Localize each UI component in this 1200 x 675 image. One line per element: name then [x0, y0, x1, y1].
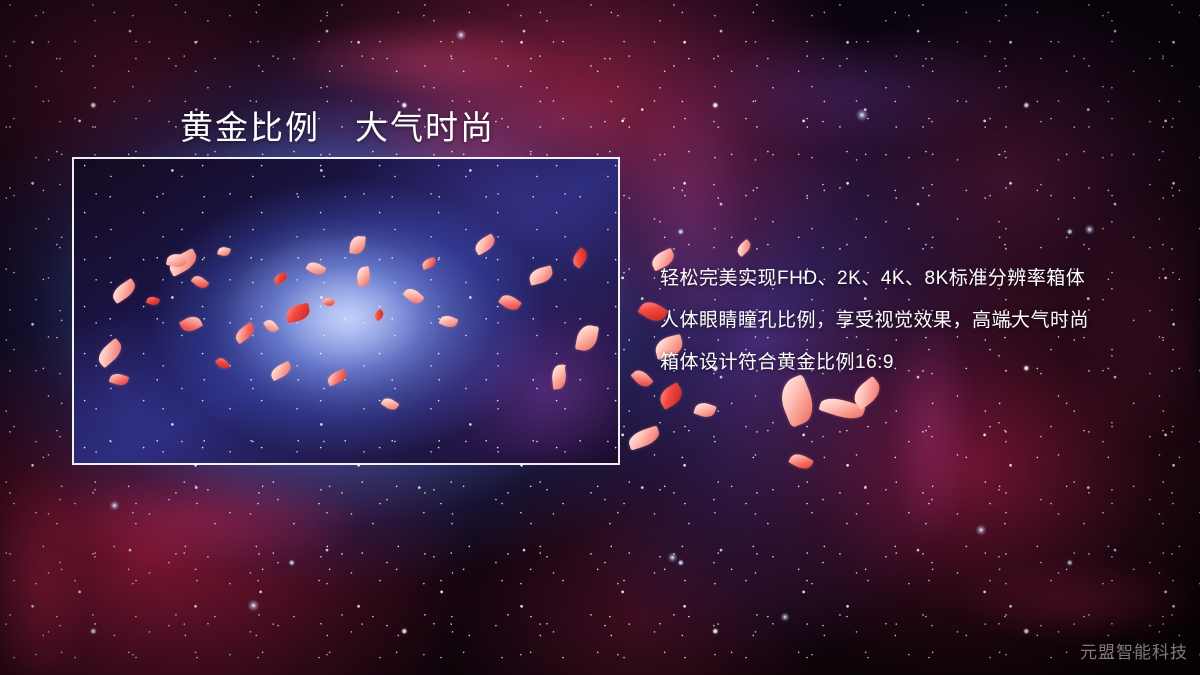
- body-line: 人体眼睛瞳孔比例，享受视觉效果，高端大气时尚: [660, 300, 1180, 342]
- slide-canvas: 黄金比例 大气时尚 轻松完美实现FHD、2K、4K、8K标准分辨率箱体 人体眼睛…: [0, 0, 1200, 675]
- body-line: 箱体设计符合黄金比例16:9: [660, 342, 1180, 384]
- body-line: 轻松完美实现FHD、2K、4K、8K标准分辨率箱体: [660, 258, 1180, 300]
- preview-image-frame[interactable]: [72, 157, 620, 465]
- page-title: 黄金比例 大气时尚: [180, 101, 495, 149]
- watermark: 元盟智能科技: [1080, 638, 1188, 663]
- preview-starfield: [74, 159, 618, 463]
- body-text-block: 轻松完美实现FHD、2K、4K、8K标准分辨率箱体 人体眼睛瞳孔比例，享受视觉效…: [660, 258, 1180, 384]
